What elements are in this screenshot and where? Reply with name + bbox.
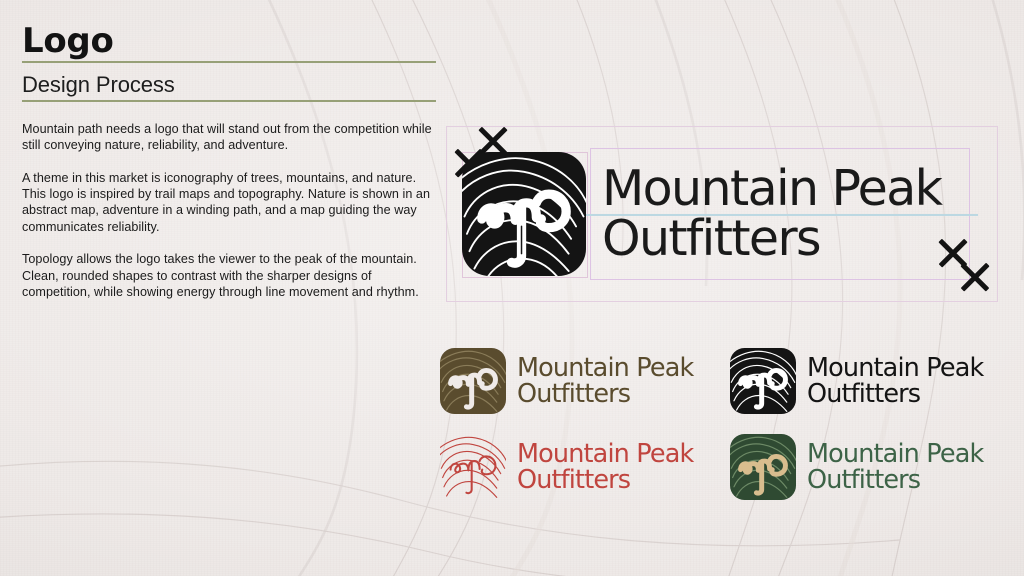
variant-line-2: Outfitters: [517, 382, 693, 407]
variant-line-1: Mountain Peak: [517, 356, 693, 381]
mountain-peak-monogram-icon-black: [730, 348, 796, 414]
body-copy: Mountain path needs a logo that will sta…: [22, 121, 436, 301]
page-title: Logo: [22, 24, 436, 58]
wordmark-line-1: Mountain Peak: [602, 165, 941, 213]
left-column: Logo Design Process Mountain path needs …: [22, 24, 436, 300]
variant-wordmark-green: Mountain Peak Outfitters: [807, 442, 983, 493]
variant-wordmark-black: Mountain Peak Outfitters: [807, 356, 983, 407]
variant-wordmark-red: Mountain Peak Outfitters: [517, 442, 693, 493]
primary-logo-lockup: Mountain Peak Outfitters: [462, 152, 941, 276]
variant-line-2: Outfitters: [517, 468, 693, 493]
mountain-peak-monogram-icon-brown: [440, 348, 506, 414]
paragraph-2: A theme in this market is iconography of…: [22, 170, 436, 236]
primary-wordmark: Mountain Peak Outfitters: [602, 165, 941, 262]
mountain-peak-topographic-monogram-icon: [462, 152, 586, 276]
variant-wordmark-brown: Mountain Peak Outfitters: [517, 356, 693, 407]
variant-line-2: Outfitters: [807, 382, 983, 407]
mountain-peak-monogram-icon-red: [440, 434, 506, 500]
variant-line-1: Mountain Peak: [807, 442, 983, 467]
mountain-peak-monogram-icon-green: [730, 434, 796, 500]
logo-variant-red: Mountain Peak Outfitters: [440, 424, 726, 510]
paragraph-3: Topology allows the logo takes the viewe…: [22, 251, 436, 300]
variant-line-1: Mountain Peak: [807, 356, 983, 381]
logo-variant-brown: Mountain Peak Outfitters: [440, 338, 726, 424]
logo-variant-black: Mountain Peak Outfitters: [730, 338, 1016, 424]
logo-color-variants: Mountain Peak Outfitters: [440, 338, 1016, 510]
logo-variant-green: Mountain Peak Outfitters: [730, 424, 1016, 510]
subtitle-rule: [22, 100, 436, 102]
paragraph-1: Mountain path needs a logo that will sta…: [22, 121, 436, 154]
crop-mark-icon-bottom-right-b: [958, 260, 992, 294]
variant-line-1: Mountain Peak: [517, 442, 693, 467]
title-rule: [22, 61, 436, 63]
wordmark-line-2: Outfitters: [602, 215, 941, 263]
page-subtitle: Design Process: [22, 72, 436, 97]
variant-line-2: Outfitters: [807, 468, 983, 493]
